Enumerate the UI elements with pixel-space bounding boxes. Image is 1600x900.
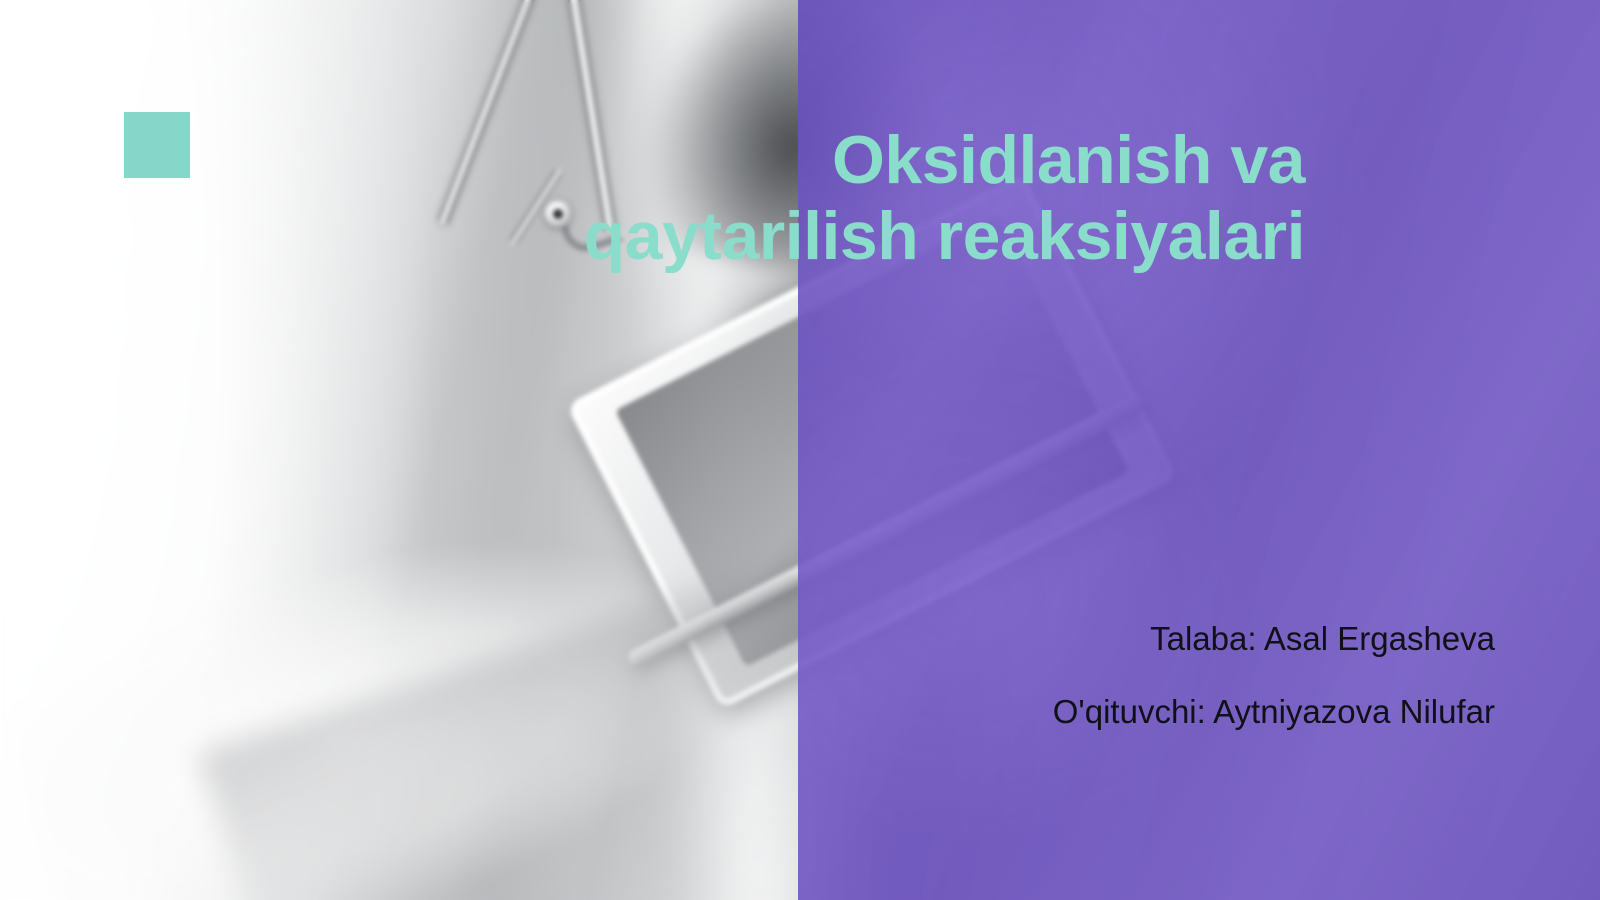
mint-accent-square: [124, 112, 190, 178]
student-credit-line: Talaba: Asal Ergasheva: [900, 620, 1495, 658]
slide-credits: Talaba: Asal Ergasheva O'qituvchi: Aytni…: [900, 620, 1495, 731]
credit-spacer: [900, 658, 1495, 693]
presentation-slide: Oksidlanish va qaytarilish reaksiyalari …: [0, 0, 1600, 900]
teacher-credit-line: O'qituvchi: Aytniyazova Nilufar: [900, 693, 1495, 731]
slide-title: Oksidlanish va qaytarilish reaksiyalari: [560, 122, 1305, 274]
